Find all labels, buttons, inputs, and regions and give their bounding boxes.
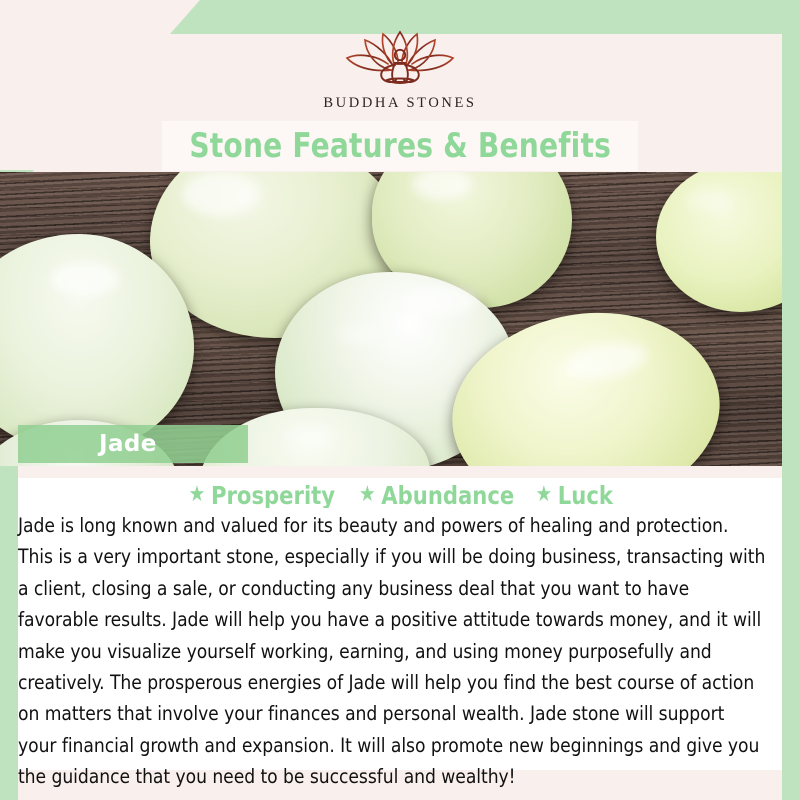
keyword-label: Abundance (381, 481, 514, 510)
keyword-label: Luck (558, 481, 613, 510)
brand-header: BUDDHA STONES (0, 28, 800, 124)
keyword-label: Prosperity (211, 481, 335, 510)
keyword-prosperity: ★ Prosperity (189, 481, 335, 510)
star-icon: ★ (359, 484, 376, 506)
lotus-meditation-icon (338, 28, 462, 90)
keyword-luck: ★ Luck (536, 481, 613, 510)
jade-stones-photo (0, 172, 782, 466)
page-title: Stone Features & Benefits (189, 126, 611, 166)
star-icon: ★ (536, 484, 553, 506)
keyword-row: ★ Prosperity ★ Abundance ★ Luck (18, 478, 782, 512)
star-icon: ★ (189, 484, 206, 506)
stone-name-bar: Jade (18, 425, 248, 463)
title-banner: Stone Features & Benefits (162, 121, 638, 171)
description-block: Jade is long known and valued for its be… (18, 508, 782, 770)
stone-name-label: Jade (99, 431, 157, 457)
stone-benefits-poster: BUDDHA STONES Stone Features & Benefits (0, 0, 800, 800)
keyword-abundance: ★ Abundance (359, 481, 514, 510)
brand-name: BUDDHA STONES (323, 95, 476, 112)
description-paragraph: Jade is long known and valued for its be… (18, 510, 767, 793)
separator-strip (18, 466, 782, 478)
